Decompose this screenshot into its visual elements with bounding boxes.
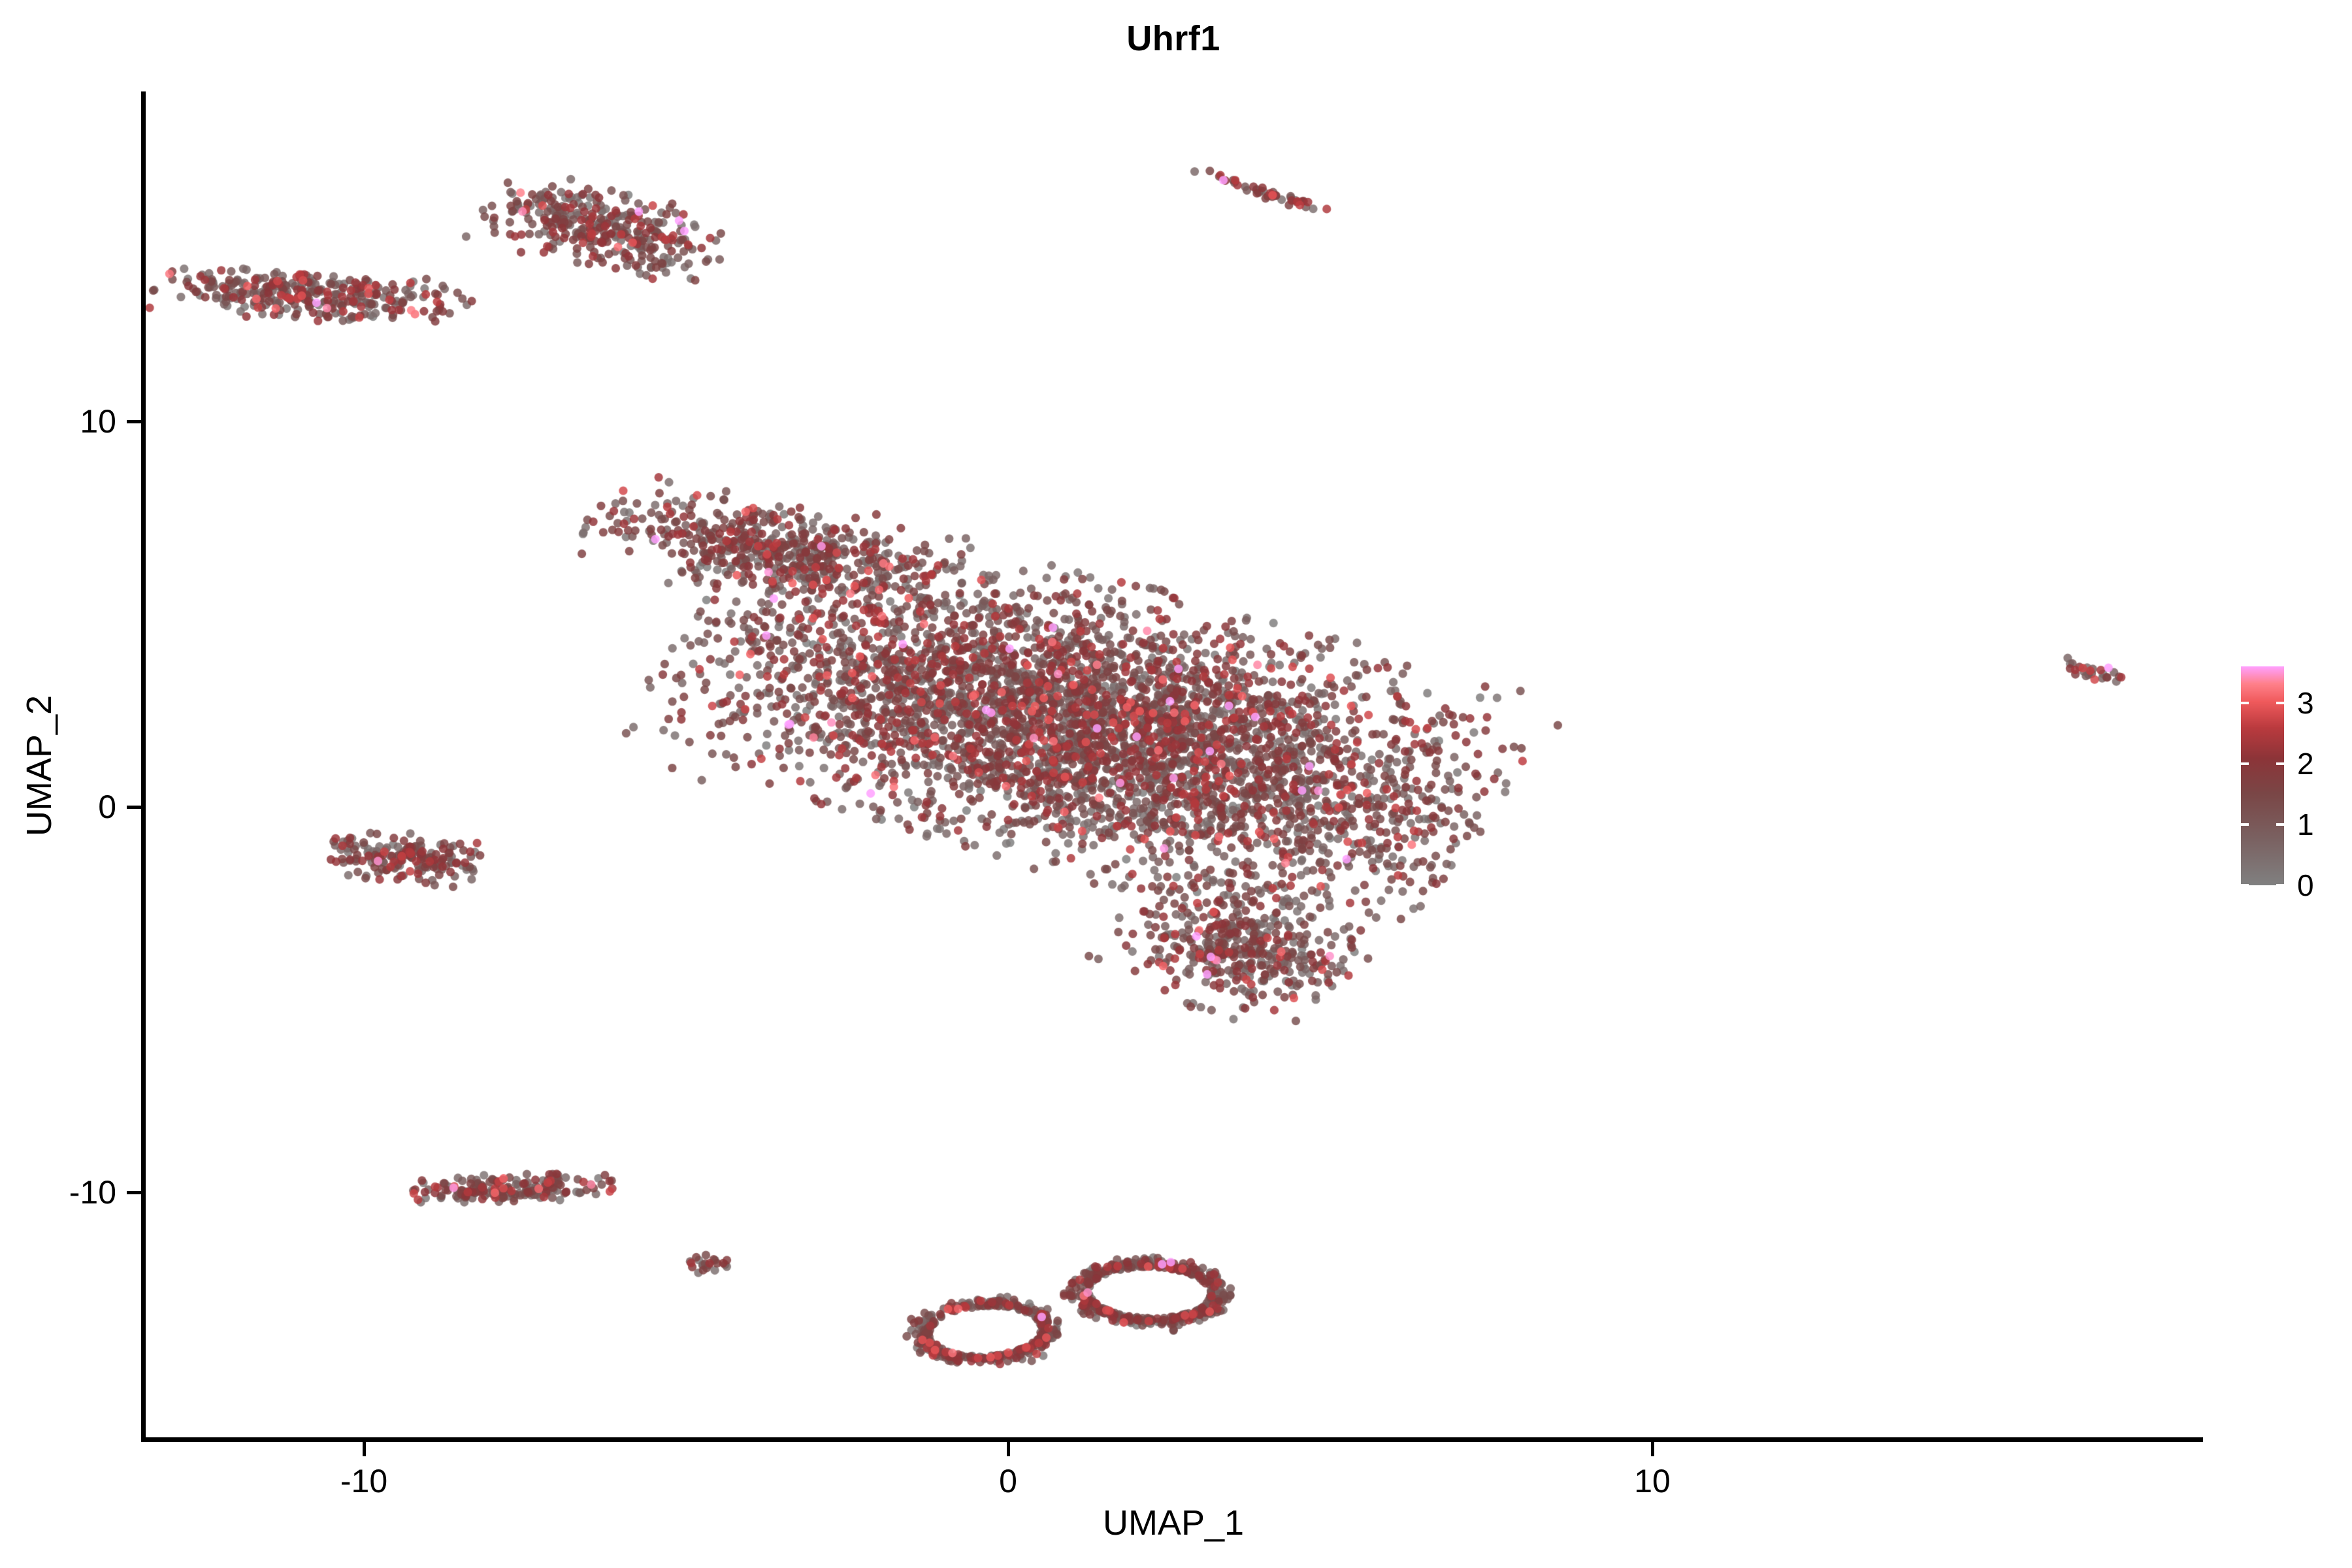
y-tick-label: -10 <box>69 1173 116 1211</box>
colorbar-tick-mark <box>2241 702 2249 704</box>
x-tick-mark <box>1007 1442 1010 1456</box>
y-axis-title: UMAP_2 <box>19 695 59 836</box>
colorbar-tick-mark <box>2276 823 2284 826</box>
x-axis-line <box>141 1437 2203 1442</box>
colorbar-tick-label: 2 <box>2297 746 2314 781</box>
colorbar-tick-label: 0 <box>2297 868 2314 903</box>
y-tick-mark <box>127 420 141 423</box>
y-tick-mark <box>127 806 141 809</box>
y-tick-mark <box>127 1191 141 1194</box>
colorbar-tick-label: 1 <box>2297 807 2314 842</box>
colorbar-tick-mark <box>2241 884 2249 887</box>
plot-panel <box>144 91 2203 1439</box>
page-title: Uhrf1 <box>144 18 2203 59</box>
scatter-points-layer <box>144 91 2203 1439</box>
colorbar-tick-mark <box>2241 823 2249 826</box>
x-tick-label: 0 <box>999 1462 1017 1500</box>
colorbar-legend: 3210 <box>2241 666 2345 889</box>
colorbar-tick-label: 3 <box>2297 685 2314 721</box>
x-tick-label: 10 <box>1634 1462 1671 1500</box>
colorbar-gradient <box>2241 666 2284 885</box>
x-tick-label: -10 <box>340 1462 387 1500</box>
x-axis-title: UMAP_1 <box>144 1503 2203 1543</box>
y-tick-label: 0 <box>98 788 116 826</box>
colorbar-tick-mark <box>2241 762 2249 765</box>
colorbar-tick-mark <box>2276 702 2284 704</box>
x-tick-mark <box>1651 1442 1654 1456</box>
y-tick-label: 10 <box>80 402 116 440</box>
x-tick-mark <box>363 1442 366 1456</box>
umap-feature-plot: Uhrf1 -10010 100-10 UMAP_1 UMAP_2 3210 <box>0 0 2352 1568</box>
y-axis-line <box>141 91 146 1440</box>
colorbar-tick-mark <box>2276 884 2284 887</box>
colorbar-tick-mark <box>2276 762 2284 765</box>
